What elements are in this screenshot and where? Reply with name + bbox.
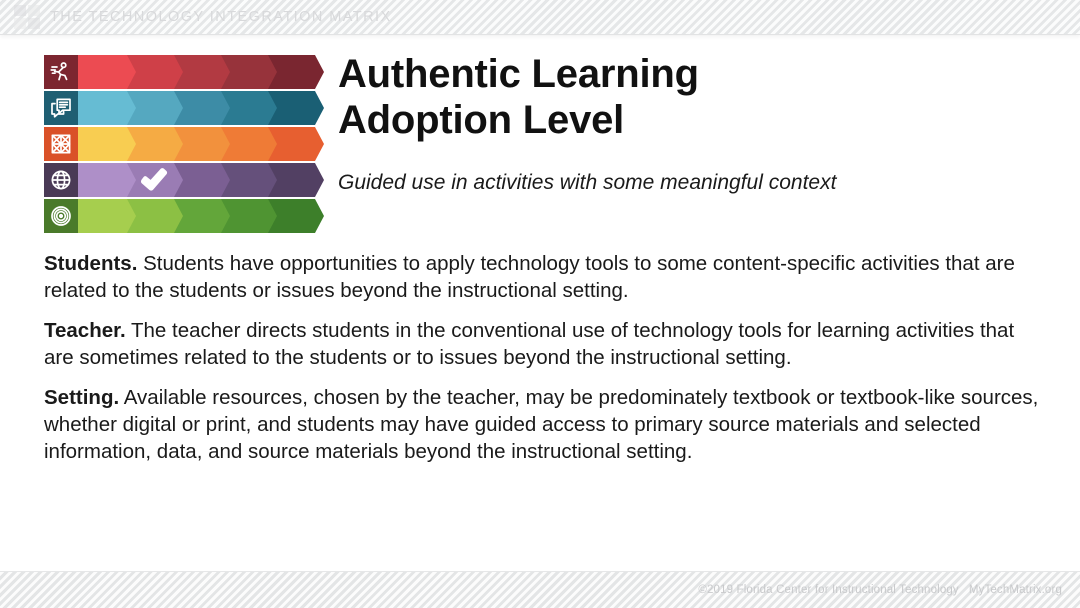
tim-grid-logo-icon [14, 5, 40, 29]
matrix-row-active [44, 55, 312, 89]
matrix-level-strip [78, 163, 312, 197]
matrix-level-strip [78, 91, 312, 125]
descriptor-paragraph-setting: Setting. Available resources, chosen by … [44, 384, 1044, 465]
descriptor-body: Students. Students have opportunities to… [44, 250, 1044, 465]
matrix-level-strip [78, 55, 312, 89]
documents-icon [44, 91, 78, 125]
page-subtitle: Guided use in activities with some meani… [338, 169, 1038, 196]
page-footer-band: ©2019 Florida Center for Instructional T… [0, 571, 1080, 608]
title-block: Authentic Learning Adoption Level Guided… [338, 52, 1038, 196]
matrix-cell-active-entry[interactable] [78, 55, 136, 89]
matrix-row-collaborative [44, 91, 312, 125]
descriptor-label: Students. [44, 252, 137, 275]
descriptor-paragraph-students: Students. Students have opportunities to… [44, 250, 1044, 304]
target-rings-icon [44, 199, 78, 233]
descriptor-text: Students have opportunities to apply tec… [44, 252, 1015, 302]
descriptor-text: The teacher directs students in the conv… [44, 319, 1014, 369]
matrix-cell-collaborative-entry[interactable] [78, 91, 136, 125]
matrix-row-authentic [44, 163, 312, 197]
globe-icon [44, 163, 78, 197]
matrix-cell-authentic-entry[interactable] [78, 163, 136, 197]
header-title: THE TECHNOLOGY INTEGRATION MATRIX [50, 9, 392, 25]
page-header-band: THE TECHNOLOGY INTEGRATION MATRIX [0, 0, 1080, 35]
matrix-row-goal-directed [44, 199, 312, 233]
header-brand: THE TECHNOLOGY INTEGRATION MATRIX [0, 0, 392, 34]
matrix-row-constructive [44, 127, 312, 161]
matrix-cell-constructive-entry[interactable] [78, 127, 136, 161]
technology-integration-matrix [44, 55, 312, 233]
descriptor-label: Teacher. [44, 319, 126, 342]
page-title: Authentic Learning Adoption Level [338, 52, 1038, 143]
descriptor-text: Available resources, chosen by the teach… [44, 386, 1038, 463]
scaffold-tower-icon [44, 127, 78, 161]
matrix-cell-goal-directed-entry[interactable] [78, 199, 136, 233]
running-person-icon [44, 55, 78, 89]
descriptor-label: Setting. [44, 386, 119, 409]
descriptor-paragraph-teacher: Teacher. The teacher directs students in… [44, 317, 1044, 371]
footer-copyright: ©2019 Florida Center for Instructional T… [698, 572, 1062, 608]
matrix-level-strip [78, 199, 312, 233]
matrix-level-strip [78, 127, 312, 161]
